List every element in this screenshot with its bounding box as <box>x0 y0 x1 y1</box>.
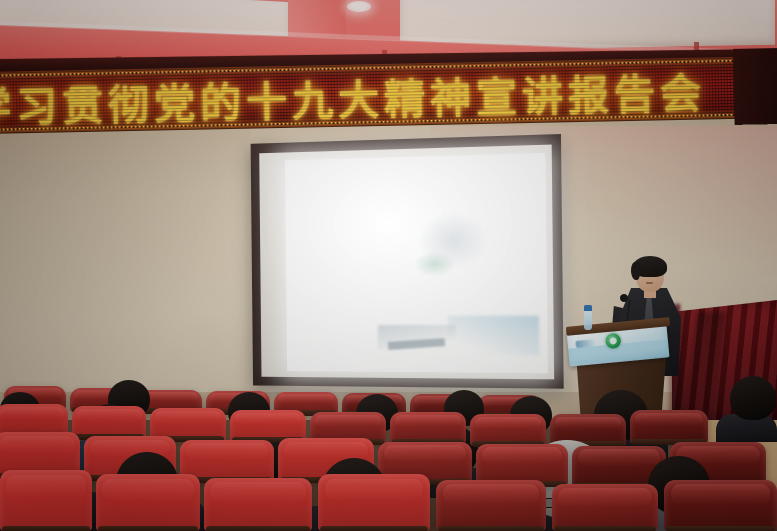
seat-trim <box>206 526 310 531</box>
led-banner-text: 学习贯彻党的十九大精神宣讲报告会 <box>0 60 776 132</box>
led-banner-right-cap <box>733 48 777 125</box>
presenter-hair-side <box>631 262 640 280</box>
seat <box>204 478 312 531</box>
wall-shadow-left <box>0 126 250 416</box>
screen-mat <box>259 145 554 380</box>
seat <box>436 480 546 531</box>
audience-head <box>730 376 776 420</box>
presenter-mouth <box>646 282 653 284</box>
seat-trim <box>98 526 198 531</box>
screen-surface <box>285 153 548 373</box>
downlight-icon <box>347 1 371 12</box>
seat-trim <box>320 526 428 531</box>
seat-trim <box>2 526 90 531</box>
seat <box>552 484 658 531</box>
seat-trim <box>666 526 775 531</box>
seat <box>664 480 777 531</box>
seat <box>0 470 92 531</box>
seat <box>96 474 200 531</box>
seat-trim <box>438 526 544 531</box>
microphone-icon <box>620 294 628 302</box>
screen-ghost-shape-2 <box>413 251 455 277</box>
screen-slide-right <box>448 316 539 356</box>
projection-screen <box>251 134 564 389</box>
seat <box>318 474 430 531</box>
water-bottle-cap <box>584 305 592 311</box>
seat-trim <box>554 526 656 531</box>
auditorium-photo: 学习贯彻党的十九大精神宣讲报告会 <box>0 0 777 531</box>
water-bottle-icon <box>584 309 592 330</box>
